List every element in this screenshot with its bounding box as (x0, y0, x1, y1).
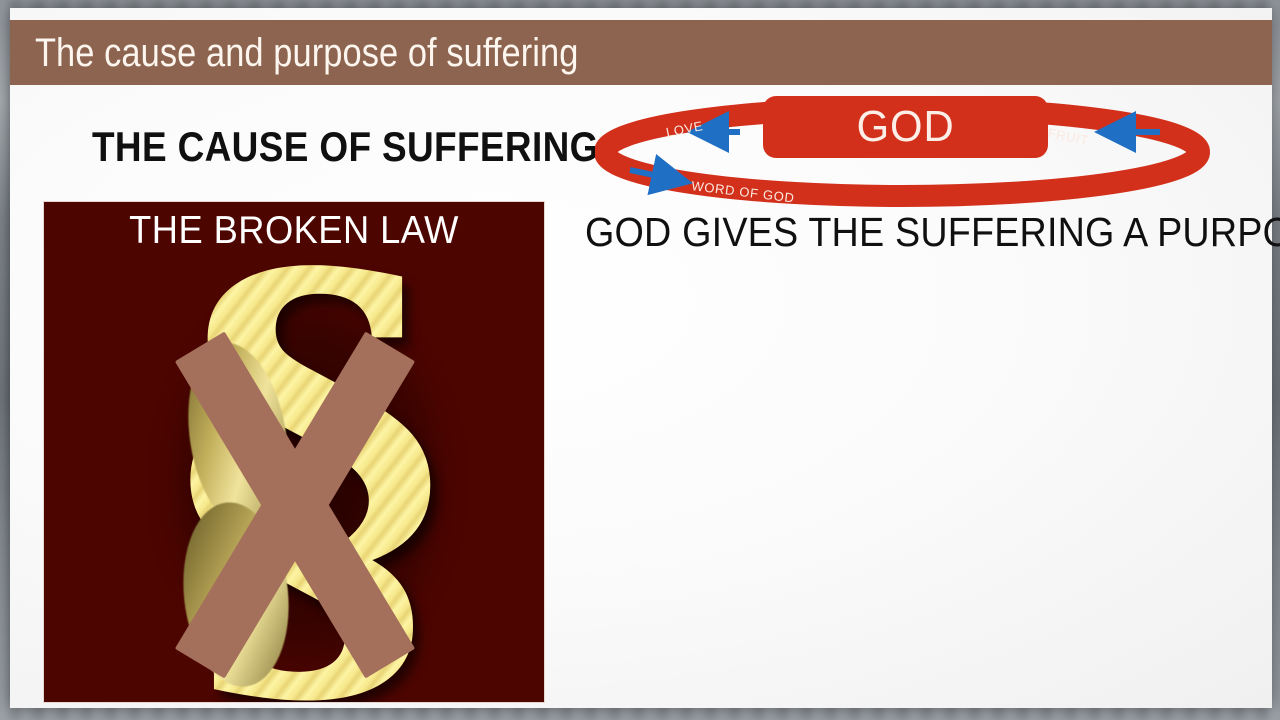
ring-label-fruit: FRUIT (1046, 125, 1090, 148)
purpose-of-suffering-heading: GOD GIVES THE SUFFERING A PURPOSE – (585, 212, 1280, 253)
cause-of-suffering-heading: THE CAUSE OF SUFFERING (92, 126, 599, 168)
slide-frame: The cause and purpose of suffering THE C… (0, 0, 1280, 720)
broken-law-caption: THE BROKEN LAW (62, 208, 527, 255)
presentation-slide: The cause and purpose of suffering THE C… (10, 8, 1272, 708)
god-cycle-diagram: LOVE FRUIT WORD OF GOD GOD (595, 92, 1210, 208)
slide-title-bar: The cause and purpose of suffering (10, 20, 1272, 85)
god-center-box: GOD (763, 96, 1048, 158)
page-title: The cause and purpose of suffering (10, 33, 578, 73)
god-label: GOD (856, 105, 954, 149)
broken-law-illustration: § THE BROKEN LAW (43, 201, 545, 703)
